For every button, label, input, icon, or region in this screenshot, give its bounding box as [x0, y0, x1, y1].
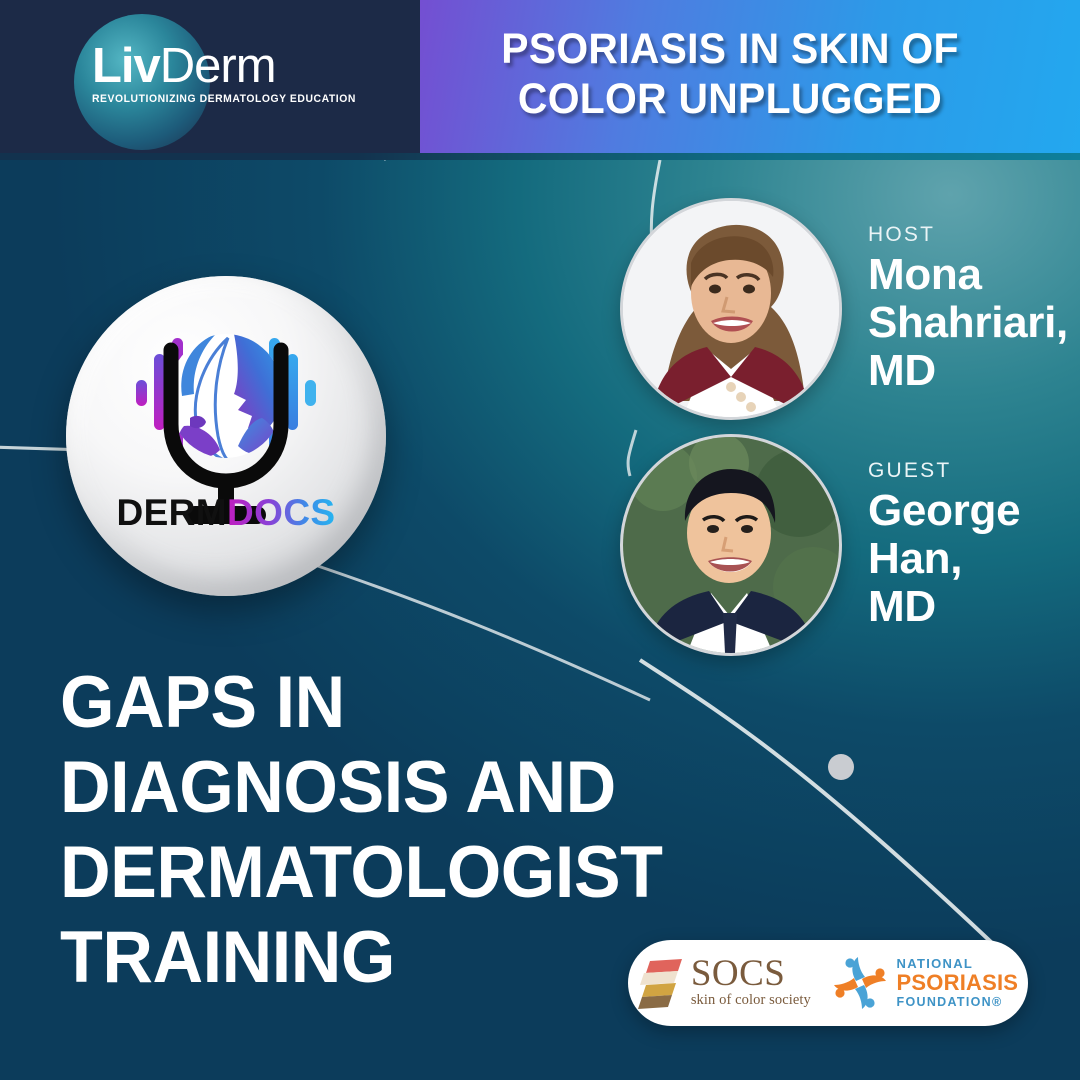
portrait-mona-shahriari	[623, 201, 839, 417]
host-block: HOST Mona Shahriari, MD	[620, 198, 1080, 420]
dermdocs-word-derm: DERM	[116, 492, 227, 533]
npf-pinwheel-icon	[831, 954, 889, 1012]
host-name-line-2: Shahriari,	[868, 299, 1080, 347]
host-name: Mona Shahriari, MD	[868, 251, 1080, 395]
socs-subtitle: skin of color society	[691, 992, 811, 1009]
host-portrait[interactable]	[620, 198, 842, 420]
npf-text: NATIONAL PSORIASIS FOUNDATION®	[897, 957, 1019, 1009]
partner-logo-bar: SOCS skin of color society	[628, 940, 1028, 1026]
dermdocs-badge[interactable]: DERMDOCS	[66, 276, 386, 596]
face-leaf-silhouette	[168, 334, 284, 462]
series-title-line-1: PSORIASIS IN SKIN OF	[436, 24, 1025, 74]
socs-mark-icon	[638, 957, 684, 1009]
headline-line-1: GAPS IN	[60, 660, 761, 745]
livderm-logo[interactable]: LivDerm REVOLUTIONIZING DERMATOLOGY EDUC…	[92, 40, 342, 105]
host-name-line-3: MD	[868, 347, 1080, 395]
guest-role-label: GUEST	[868, 459, 1080, 483]
livderm-wordmark-light: Derm	[160, 39, 276, 93]
socs-text: SOCS skin of color society	[691, 957, 811, 1009]
guest-name: George Han, MD	[868, 487, 1080, 631]
npf-logo[interactable]: NATIONAL PSORIASIS FOUNDATION®	[831, 954, 1019, 1012]
host-role-label: HOST	[868, 223, 1080, 247]
npf-line-foundation: FOUNDATION®	[897, 996, 1019, 1009]
dermdocs-word-docs: DOCS	[227, 492, 336, 533]
socs-name: SOCS	[691, 957, 811, 991]
headline-line-2: DIAGNOSIS AND	[60, 745, 761, 830]
socs-logo[interactable]: SOCS skin of color society	[638, 957, 811, 1009]
dermdocs-wordmark: DERMDOCS	[66, 492, 386, 534]
episode-series-title: PSORIASIS IN SKIN OF COLOR UNPLUGGED	[436, 24, 1025, 124]
host-meta: HOST Mona Shahriari, MD	[868, 223, 1080, 395]
guest-meta: GUEST George Han, MD	[868, 459, 1080, 631]
guest-name-line-1: George	[868, 487, 1080, 535]
guest-name-line-2: Han,	[868, 535, 1080, 583]
host-name-line-1: Mona	[868, 251, 1080, 299]
series-title-line-2: COLOR UNPLUGGED	[436, 74, 1025, 124]
livderm-wordmark: LivDerm	[92, 40, 342, 92]
npf-line-national: NATIONAL	[897, 957, 1019, 970]
livderm-wordmark-bold: Liv	[92, 39, 160, 93]
header-bar: LivDerm REVOLUTIONIZING DERMATOLOGY EDUC…	[0, 0, 1080, 160]
podcast-promo-poster: LivDerm REVOLUTIONIZING DERMATOLOGY EDUC…	[0, 0, 1080, 1080]
npf-line-psoriasis: PSORIASIS	[897, 972, 1019, 994]
header-underline	[0, 153, 1080, 160]
node-dot-lower	[828, 754, 854, 780]
microphone-icon	[66, 276, 386, 596]
guest-name-line-3: MD	[868, 583, 1080, 631]
livderm-tagline: REVOLUTIONIZING DERMATOLOGY EDUCATION	[92, 93, 322, 105]
guest-block: GUEST George Han, MD	[620, 434, 1080, 656]
headline-line-3: DERMATOLOGIST	[60, 830, 761, 915]
portrait-george-han	[623, 437, 839, 653]
guest-portrait[interactable]	[620, 434, 842, 656]
